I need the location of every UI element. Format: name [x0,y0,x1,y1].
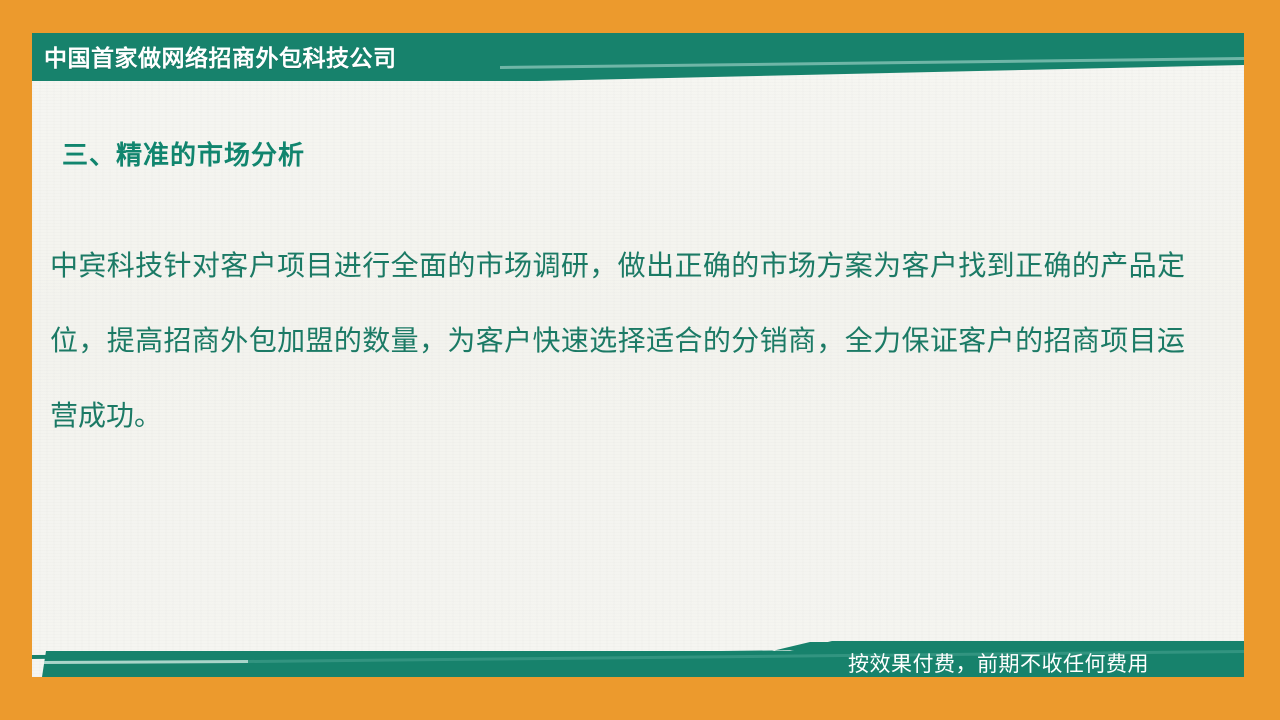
slide-root: 中国首家做网络招商外包科技公司 三、精准的市场分析 中宾科技针对客户项目进行全面… [0,0,1280,720]
section-heading: 三、精准的市场分析 [62,135,305,172]
frame-bar-right [1244,0,1280,720]
frame-bar-left [0,0,32,720]
frame-bar-bottom [0,677,1280,720]
footer-slogan: 按效果付费，前期不收任何费用 [848,648,1149,678]
frame-bar-top [0,0,1280,33]
header-banner-title: 中国首家做网络招商外包科技公司 [44,39,397,73]
body-paragraph: 中宾科技针对客户项目进行全面的市场调研，做出正确的市场方案为客户找到正确的产品定… [50,228,1185,453]
